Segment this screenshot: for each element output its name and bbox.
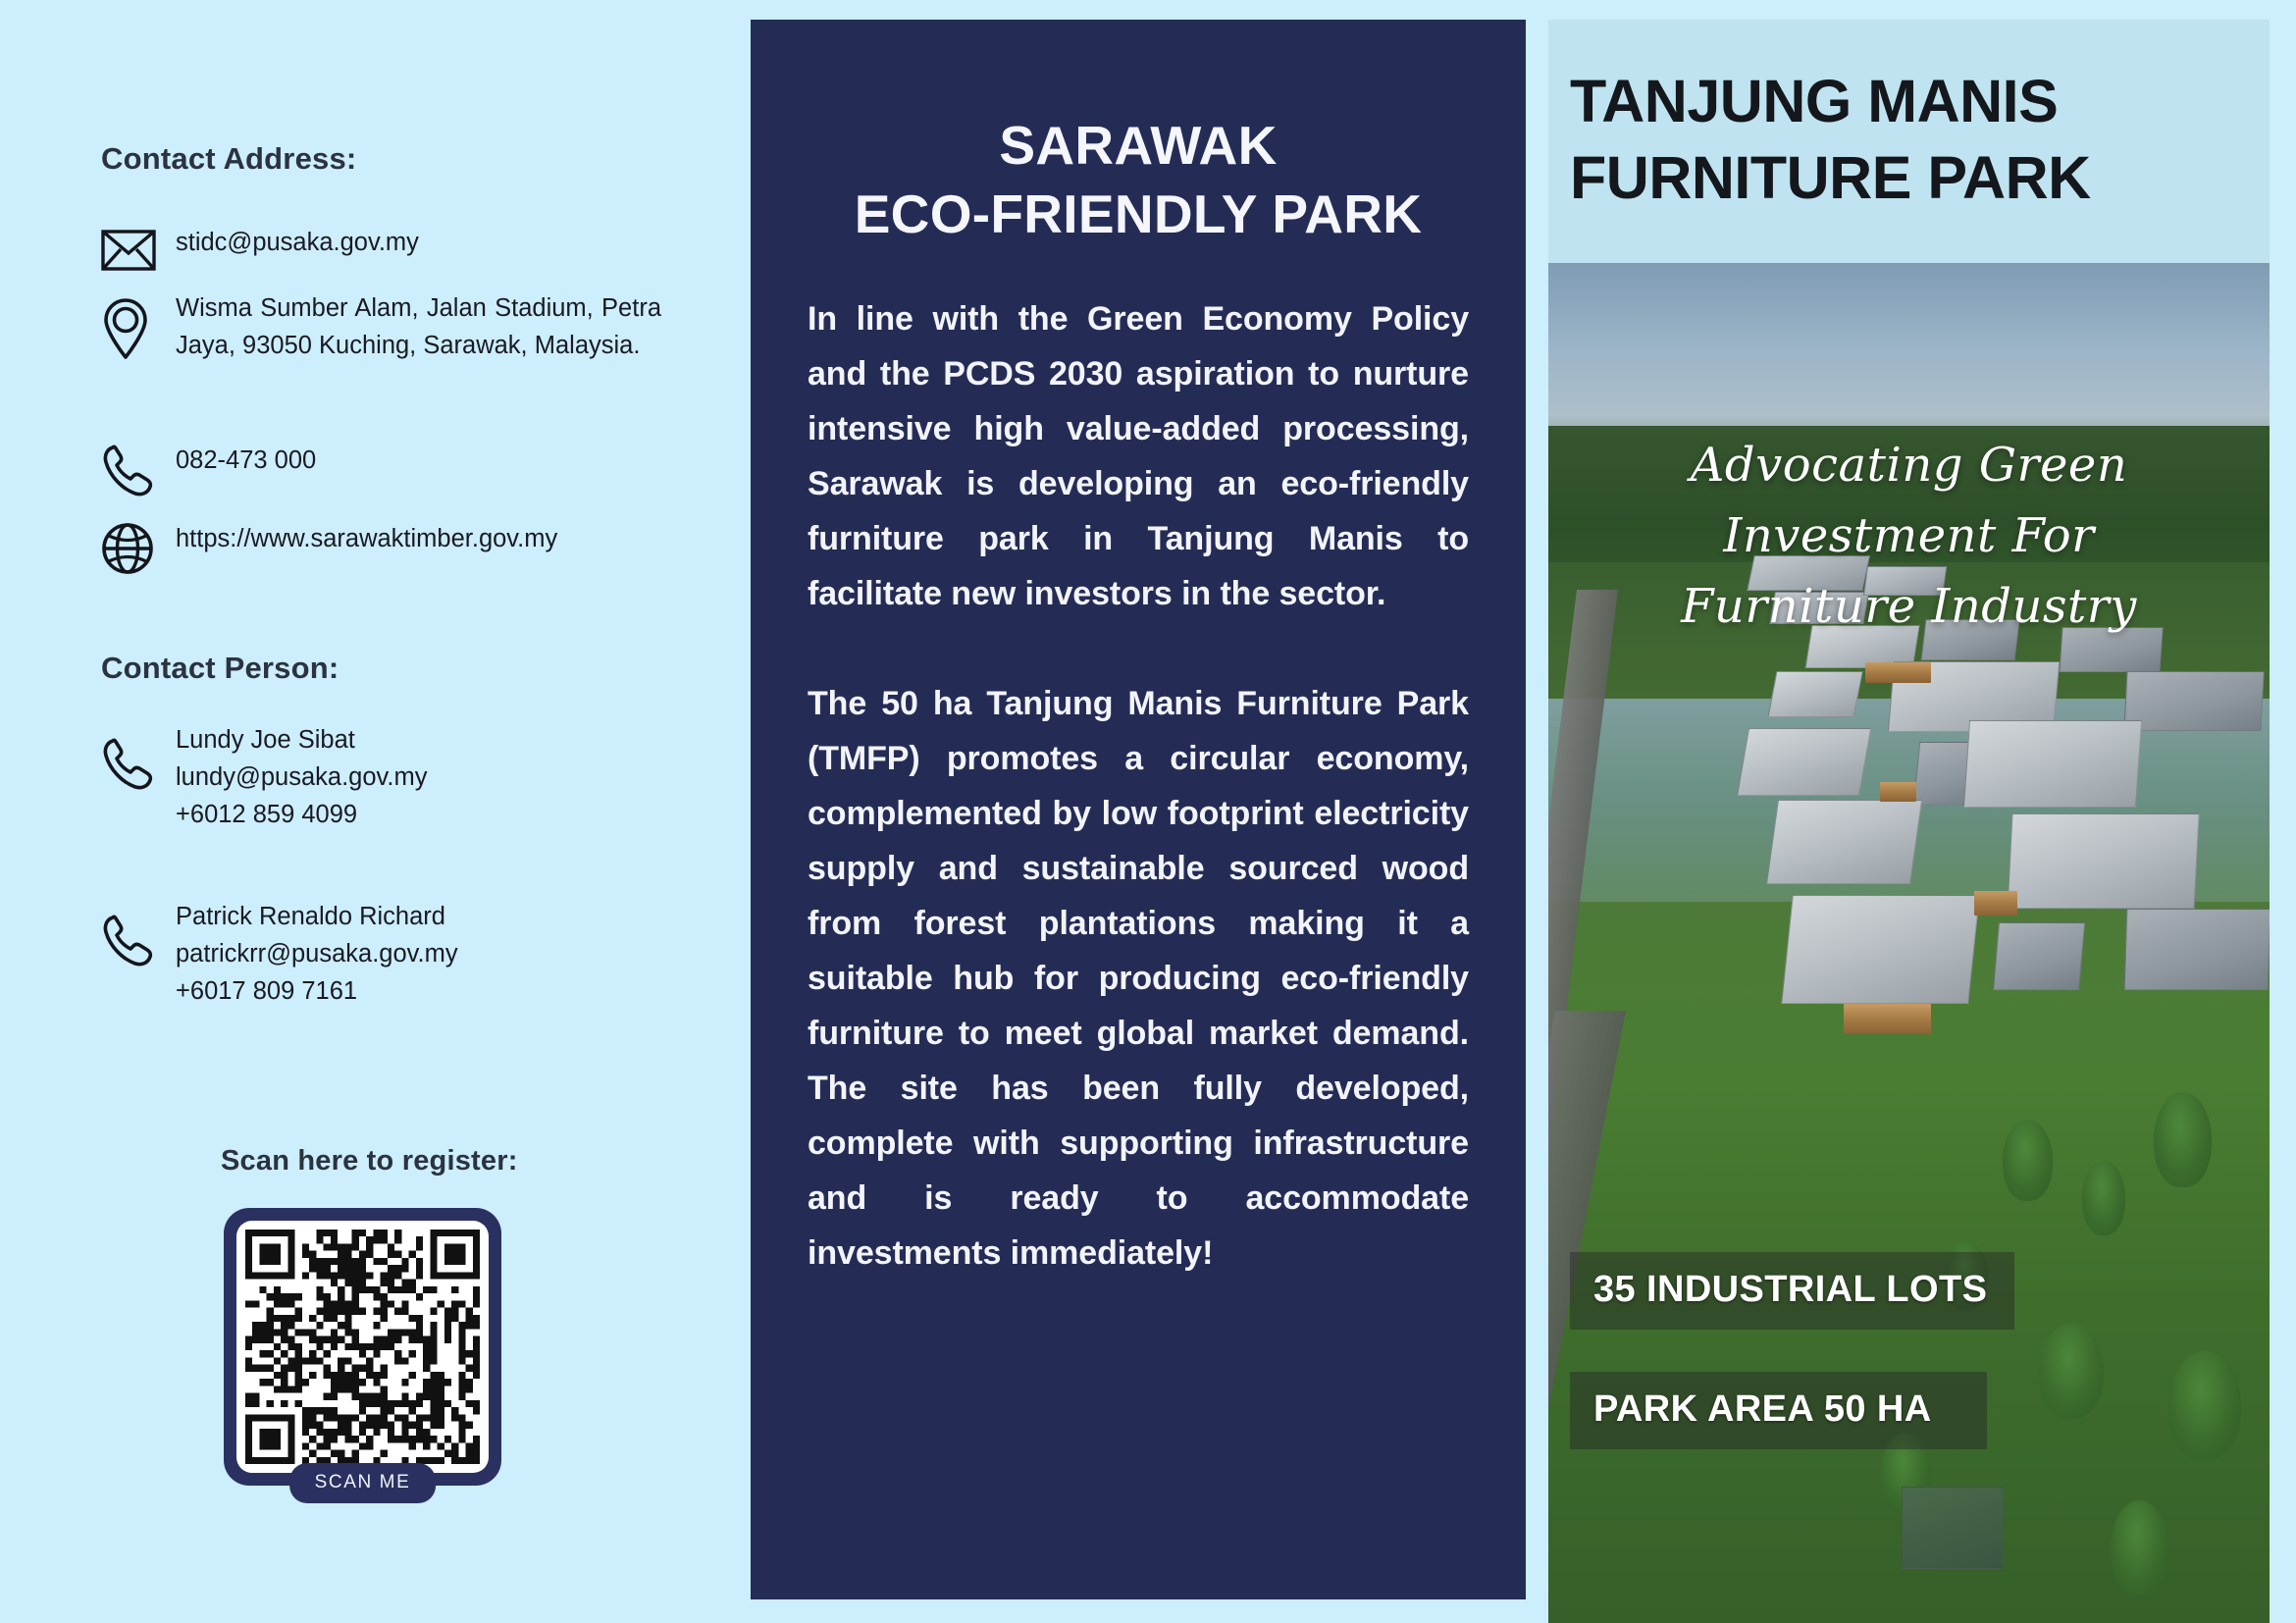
photo-tree — [2154, 1092, 2212, 1187]
person-2-name: Patrick Renaldo Richard — [176, 903, 445, 930]
location-pin-icon — [101, 289, 176, 360]
phone-icon — [101, 442, 176, 498]
person-1-name: Lundy Joe Sibat — [176, 726, 355, 754]
email-value[interactable]: stidc@pusaka.gov.my — [176, 224, 419, 261]
contact-row-website: https://www.sarawaktimber.gov.my — [101, 520, 557, 575]
badge-industrial-lots: 35 INDUSTRIAL LOTS — [1570, 1252, 2014, 1330]
photo-building — [2008, 813, 2200, 909]
photo-building — [1993, 922, 2085, 990]
photo-building — [1766, 800, 1922, 884]
photo-tree — [2082, 1161, 2125, 1235]
person-2-phone[interactable]: +6017 809 7161 — [176, 977, 357, 1005]
scan-me-label: SCAN ME — [289, 1463, 437, 1503]
contact-person-heading: Contact Person: — [101, 651, 339, 686]
photo-timber-stack — [1844, 1004, 1930, 1033]
qr-code-inner — [236, 1221, 489, 1473]
contact-row-address: Wisma Sumber Alam, Jalan Stadium, Petra … — [101, 289, 661, 364]
contact-row-phone: 082-473 000 — [101, 442, 316, 498]
photo-building — [1737, 728, 1871, 796]
photo-tree — [2039, 1324, 2104, 1419]
aerial-photo: Advocating Green Investment For Furnitur… — [1548, 263, 2270, 1623]
phone-value[interactable]: 082-473 000 — [176, 442, 316, 479]
qr-code[interactable]: SCAN ME — [224, 1208, 501, 1486]
photo-tree — [2168, 1351, 2241, 1460]
person-1-details: Lundy Joe Sibat lundy@pusaka.gov.my +601… — [176, 721, 427, 833]
photo-building — [1767, 671, 1862, 717]
photo-building — [1781, 895, 1980, 1004]
globe-icon — [101, 520, 176, 575]
tagline-line-1: Advocating Green Investment For — [1691, 438, 2127, 563]
badge-park-area: PARK AREA 50 HA — [1570, 1372, 1987, 1449]
contact-person-1: Lundy Joe Sibat lundy@pusaka.gov.my +601… — [101, 721, 427, 833]
photo-tagline: Advocating Green Investment For Furnitur… — [1548, 430, 2270, 642]
center-paragraph-1: In line with the Green Economy Policy an… — [808, 291, 1469, 621]
photo-building — [2123, 671, 2264, 731]
photo-building — [2124, 909, 2270, 990]
photo-tree — [2003, 1120, 2053, 1201]
person-2-email[interactable]: patrickrr@pusaka.gov.my — [176, 940, 458, 968]
contact-address-heading: Contact Address: — [101, 141, 356, 177]
hero-title-line-1: TANJUNG MANIS — [1570, 68, 2058, 134]
photo-building — [1963, 720, 2143, 808]
center-paragraph-2: The 50 ha Tanjung Manis Furniture Park (… — [808, 676, 1469, 1281]
photo-building — [1902, 1487, 2003, 1568]
center-title-line-1: SARAWAK — [999, 115, 1277, 176]
photo-tree — [2111, 1500, 2168, 1596]
qr-code-matrix — [245, 1230, 480, 1464]
hero-title: TANJUNG MANIS FURNITURE PARK — [1548, 20, 2270, 216]
address-value: Wisma Sumber Alam, Jalan Stadium, Petra … — [176, 289, 661, 364]
person-1-email[interactable]: lundy@pusaka.gov.my — [176, 763, 427, 791]
photo-timber-stack — [1974, 891, 2017, 916]
center-title-line-2: ECO-FRIENDLY PARK — [855, 183, 1423, 244]
contact-panel: Contact Address: stidc@pusaka.gov.my Wis… — [0, 0, 751, 1623]
envelope-icon — [101, 224, 176, 271]
hero-title-line-2: FURNITURE PARK — [1570, 144, 2091, 211]
description-panel: SARAWAK ECO-FRIENDLY PARK In line with t… — [751, 20, 1526, 1599]
hero-panel: TANJUNG MANIS FURNITURE PARK — [1548, 20, 2270, 1623]
phone-icon — [101, 898, 176, 969]
tagline-line-2: Furniture Industry — [1681, 579, 2137, 634]
photo-timber-stack — [1865, 662, 1930, 683]
phone-icon — [101, 721, 176, 792]
contact-person-2: Patrick Renaldo Richard patrickrr@pusaka… — [101, 898, 458, 1010]
contact-row-email: stidc@pusaka.gov.my — [101, 224, 419, 271]
person-1-phone[interactable]: +6012 859 4099 — [176, 801, 357, 828]
website-value[interactable]: https://www.sarawaktimber.gov.my — [176, 520, 557, 557]
person-2-details: Patrick Renaldo Richard patrickrr@pusaka… — [176, 898, 458, 1010]
photo-timber-stack — [1880, 782, 1916, 801]
scan-here-heading: Scan here to register: — [221, 1145, 518, 1178]
center-panel-title: SARAWAK ECO-FRIENDLY PARK — [808, 20, 1469, 248]
